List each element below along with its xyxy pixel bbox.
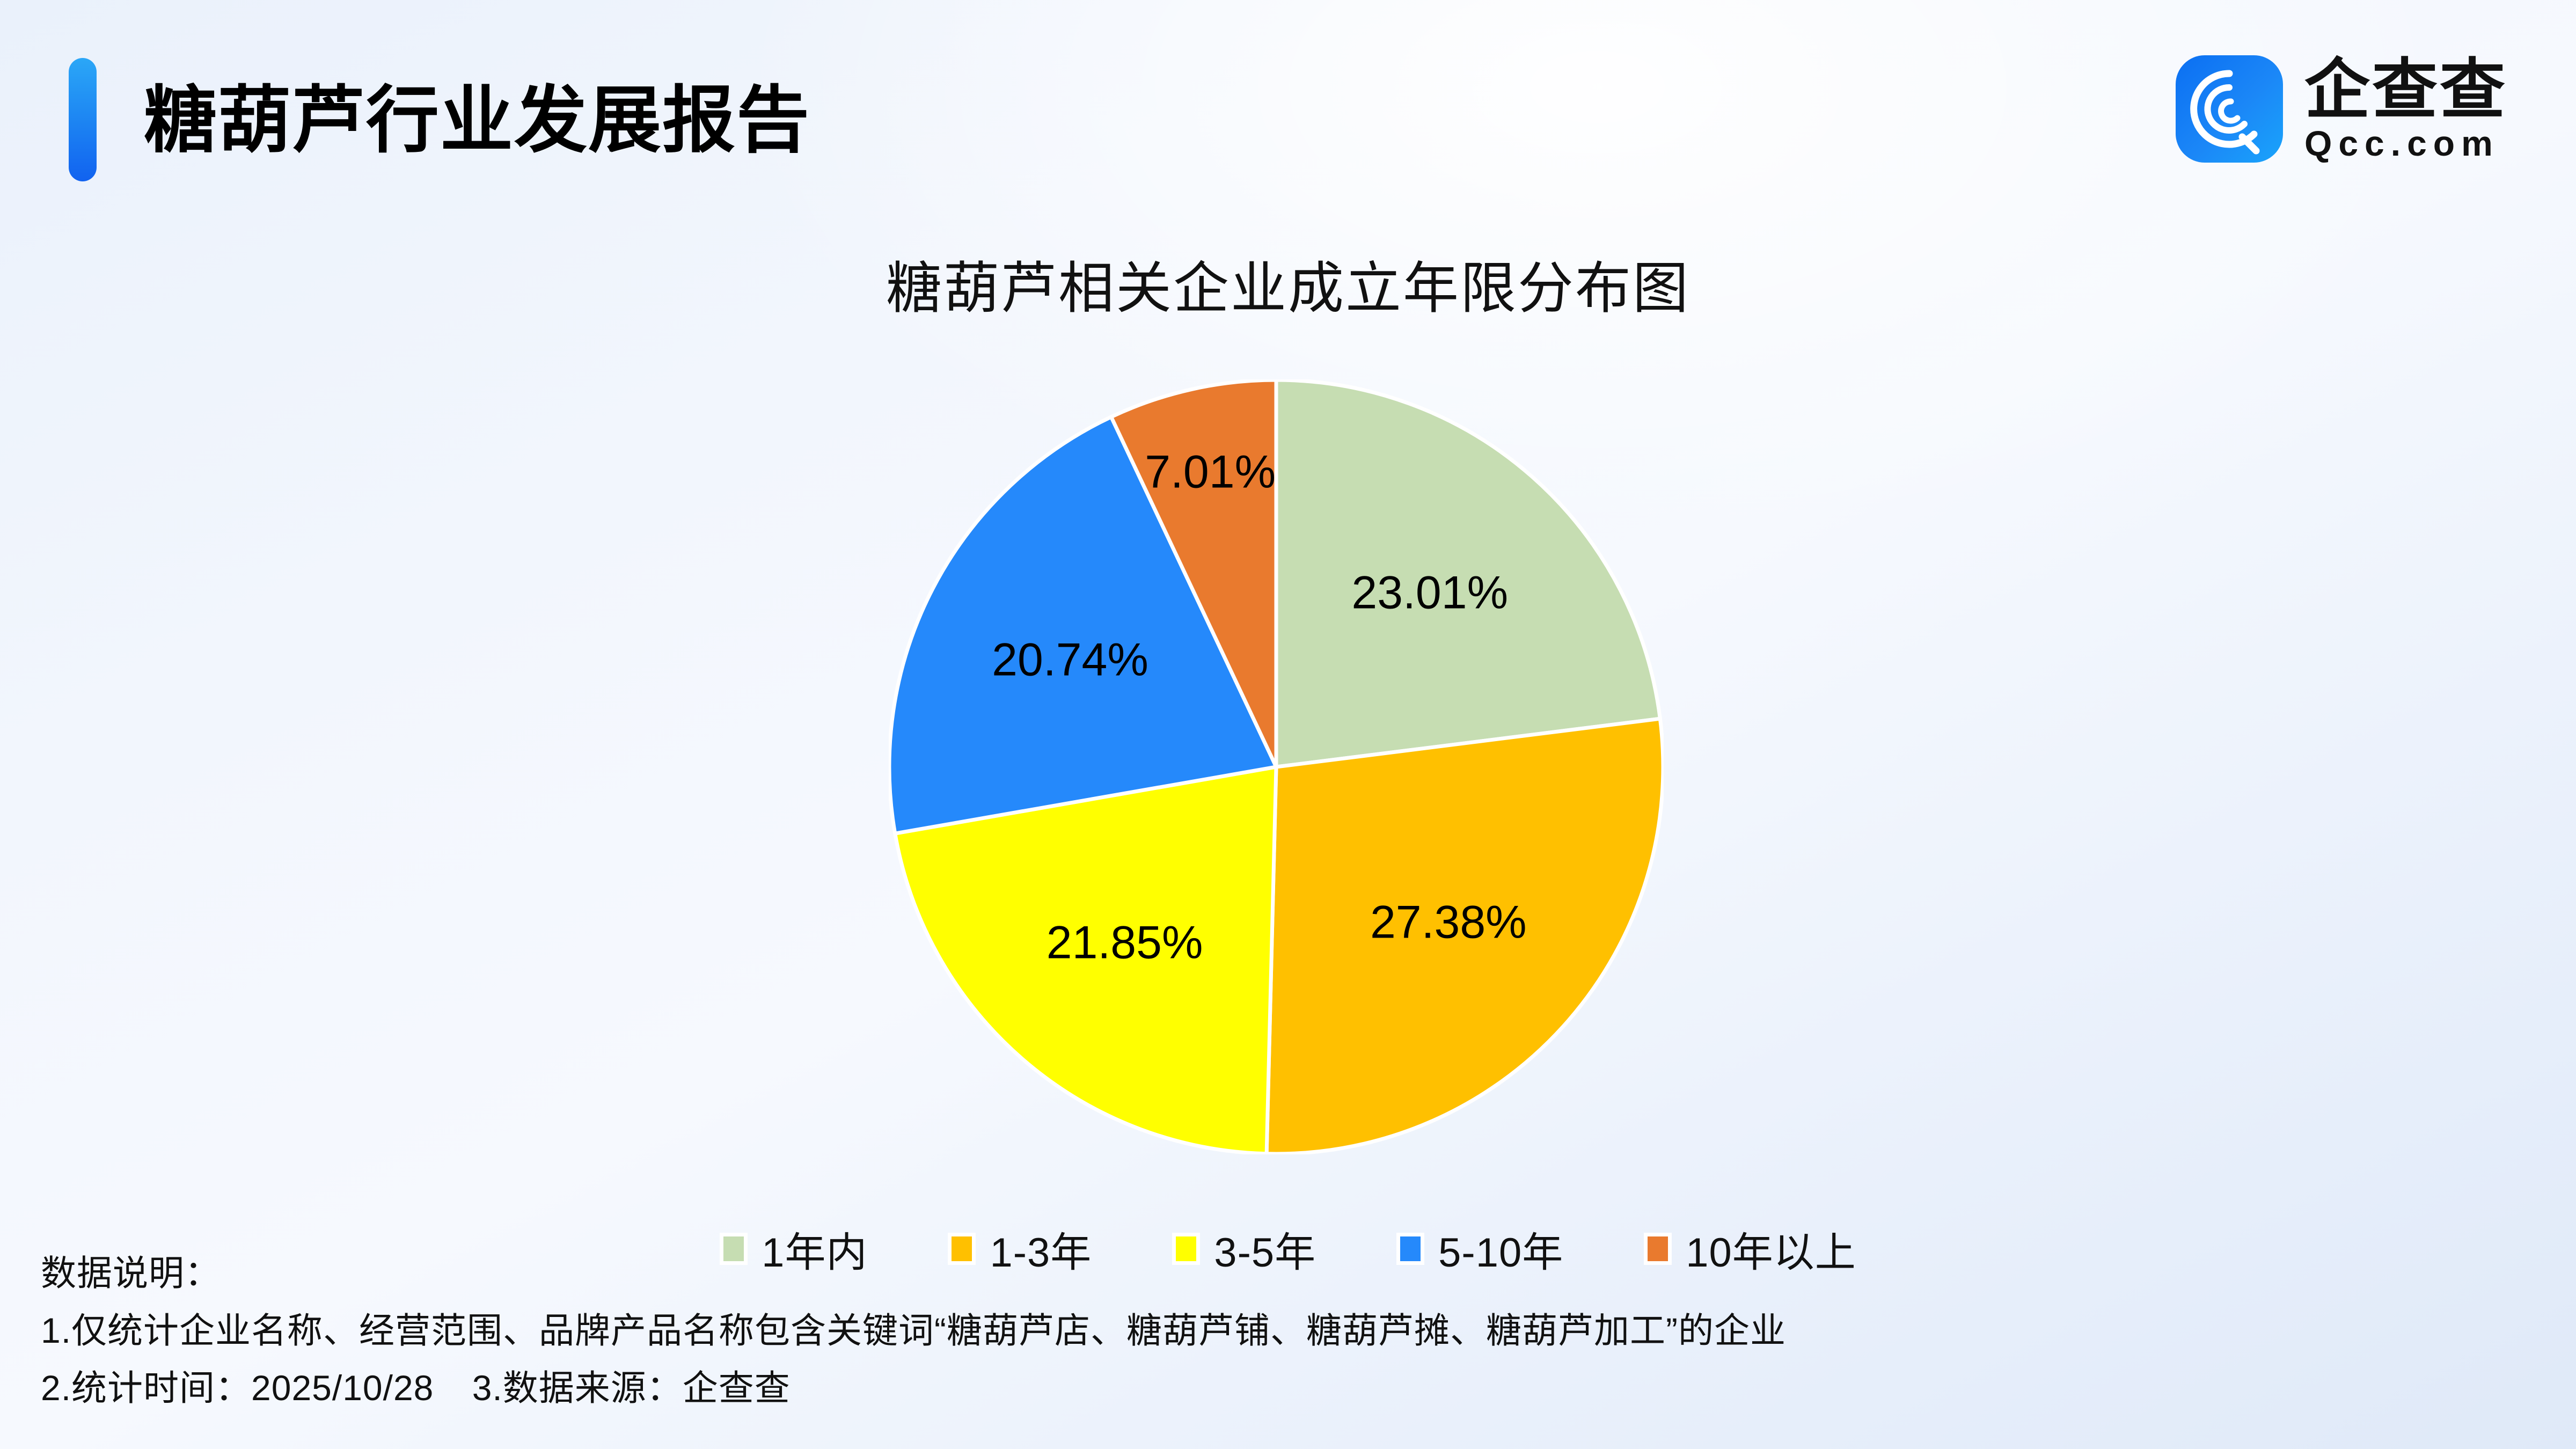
pie-chart: 23.01%27.38%21.85%20.74%7.01% — [889, 379, 1664, 1154]
brand-wordmark: 企查查 Qcc.com — [2304, 57, 2507, 161]
brand-logo: 企查查 Qcc.com — [2176, 52, 2507, 166]
pie-slice-label: 7.01% — [1145, 446, 1276, 499]
footer-note-2-3: 2.统计时间：2025/10/28 3.数据来源：企查查 — [41, 1359, 2402, 1417]
page-title: 糖葫芦行业发展报告 — [144, 59, 810, 181]
pie-slice-label: 20.74% — [992, 633, 1148, 686]
page-header: 糖葫芦行业发展报告 企查查 Qcc.com — [0, 0, 2576, 215]
pie-slice-label: 21.85% — [1046, 916, 1203, 969]
brand-name-cn: 企查查 — [2304, 57, 2507, 122]
pie-chart-svg — [889, 379, 1664, 1154]
footer-heading: 数据说明： — [41, 1245, 2402, 1302]
pie-slice-label: 27.38% — [1370, 896, 1527, 949]
footer-stat-time: 2.统计时间：2025/10/28 — [41, 1368, 434, 1408]
chart-title: 糖葫芦相关企业成立年限分布图 — [0, 243, 2576, 324]
qcc-spiral-q-icon — [2176, 55, 2283, 163]
footer-notes: 数据说明： 1.仅统计企业名称、经营范围、品牌产品名称包含关键词“糖葫芦店、糖葫… — [41, 1245, 2402, 1417]
title-accent-bar — [69, 58, 97, 181]
brand-domain: Qcc.com — [2304, 126, 2507, 161]
pie-slice-label: 23.01% — [1351, 566, 1508, 619]
footer-data-source: 3.数据来源：企查查 — [472, 1368, 791, 1408]
footer-note-1: 1.仅统计企业名称、经营范围、品牌产品名称包含关键词“糖葫芦店、糖葫芦铺、糖葫芦… — [41, 1302, 2402, 1359]
